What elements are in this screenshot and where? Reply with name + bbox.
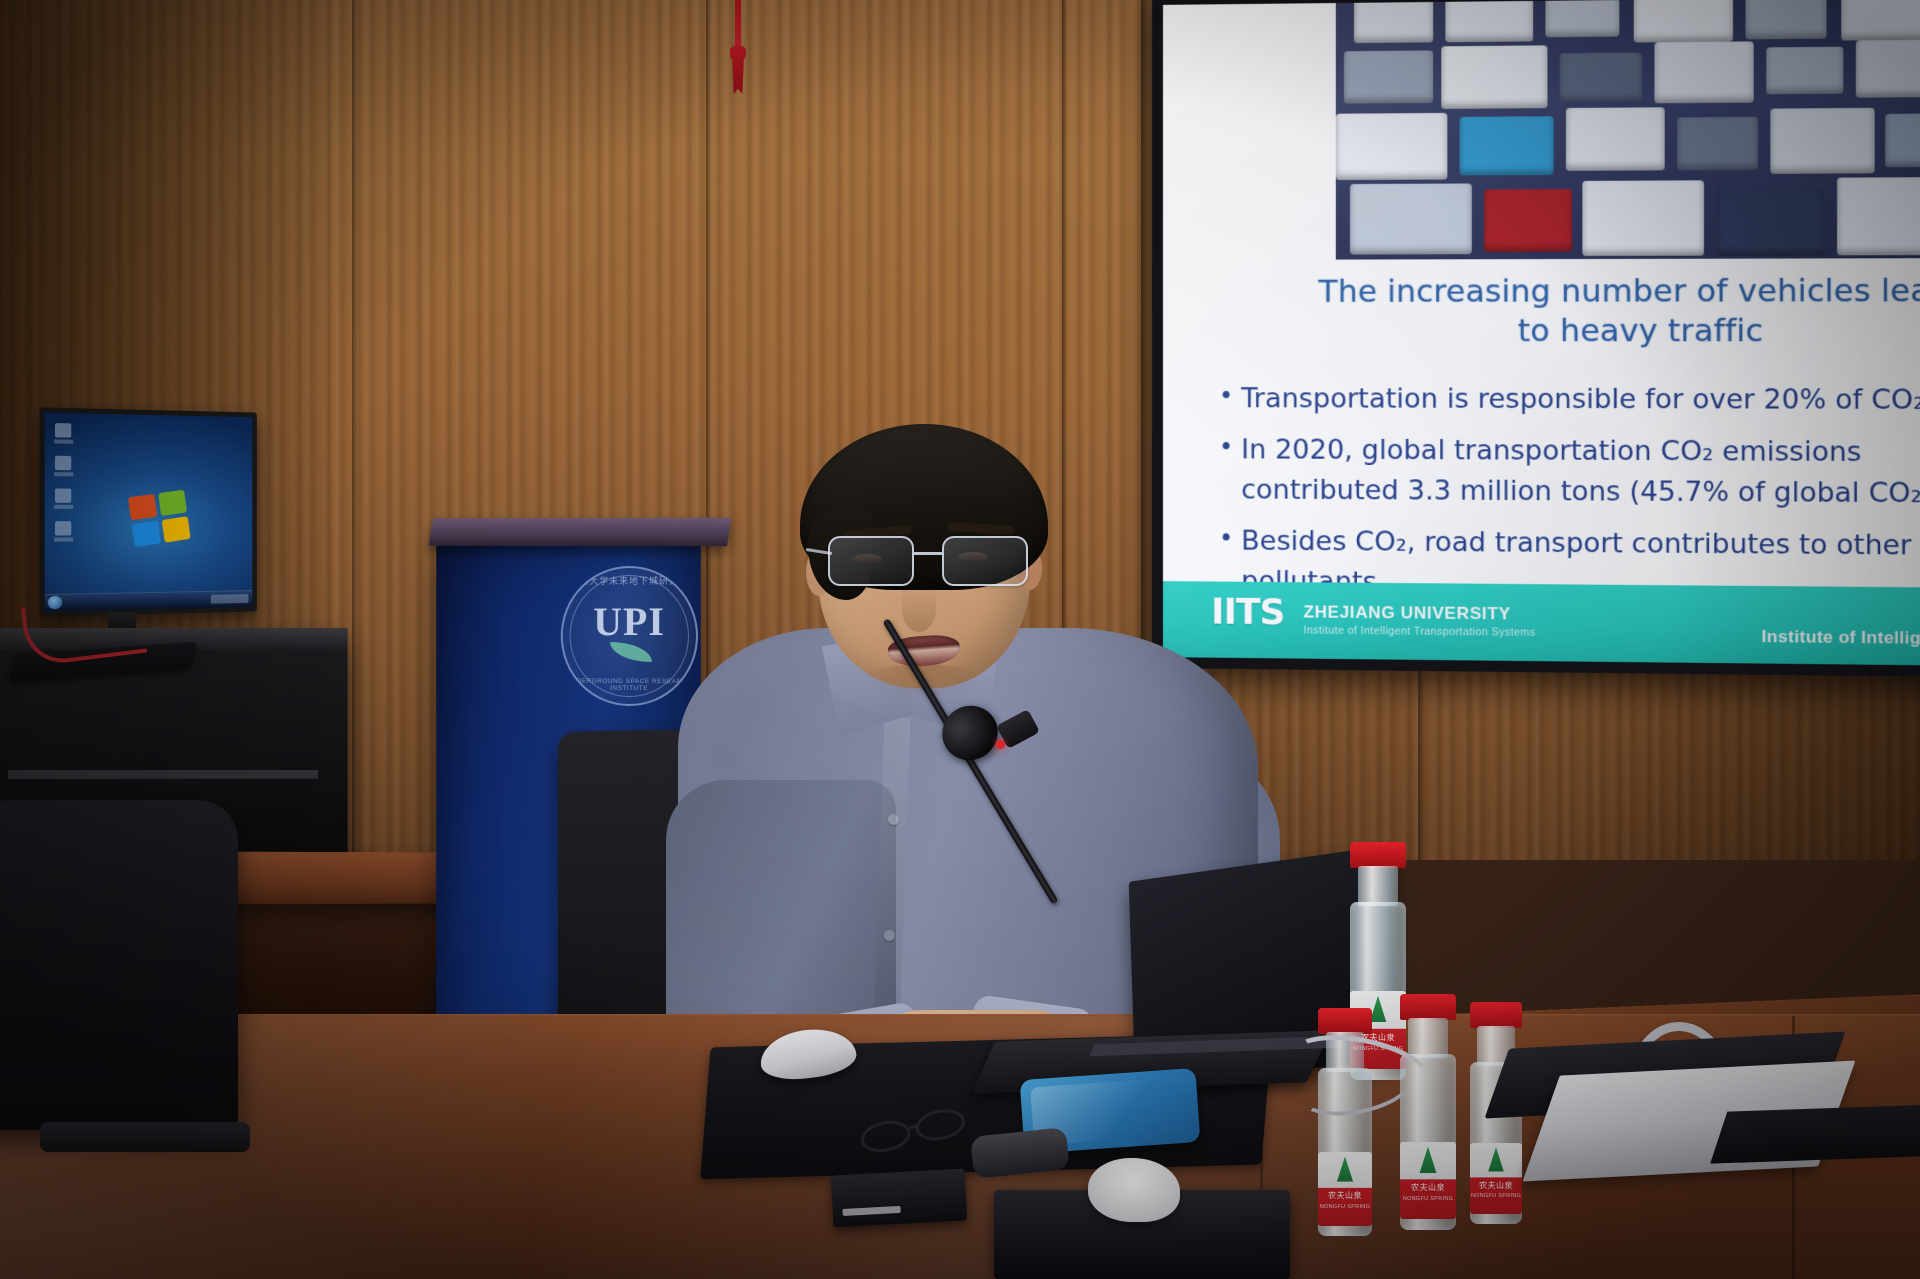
av-cart-shelf [8,770,318,779]
university-name: ZHEJIANG UNIVERSITY [1304,602,1511,624]
desktop-icon[interactable] [55,423,71,438]
black-device[interactable] [831,1169,968,1228]
bottle-brand-cn: 农夫山泉 [1318,1190,1372,1201]
windows-desktop-wallpaper [45,413,252,612]
bottle-label-mountain-icon [1370,996,1387,1023]
conference-room-scene: The increasing number of vehicles leads … [0,0,1920,1279]
foreground-chair [0,800,238,1130]
microphone-power-led [996,740,1005,749]
bottle-label: 农夫山泉 NONGFU SPRING [1470,1143,1522,1214]
bottle-label-mountain-icon [1420,1147,1437,1173]
desktop-monitor[interactable] [40,407,257,616]
institute-subtitle: Institute of Intelligent Transportation … [1304,624,1536,638]
red-tassel-decoration [728,0,748,94]
bottle-cap [1350,842,1406,868]
desktop-icon[interactable] [55,521,71,535]
bottle-cap [1400,994,1456,1020]
wall-seam [352,0,357,860]
speaker-eyeglasses [828,536,1036,592]
desktop-icon[interactable] [55,488,71,502]
bottle-label-mountain-icon [1337,1156,1353,1181]
bottle-neck [1408,1018,1448,1058]
slide-bullet-2: In 2020, global transportation CO₂ emiss… [1215,430,1920,516]
water-bottle-front-mid[interactable]: 农夫山泉 NONGFU SPRING [1400,994,1456,1230]
slide-bullet-1: Transportation is responsible for over 2… [1215,379,1920,422]
slide-heading-line-1: The increasing number of vehicles leads [1314,271,1920,312]
institute-right-text: Institute of Intellige [1762,627,1920,649]
tissue-paper [1088,1158,1180,1222]
slide-heading-line-2: to heavy traffic [1314,312,1920,352]
bottle-label: 农夫山泉 NONGFU SPRING [1400,1142,1456,1219]
folder-pad [1710,1104,1920,1163]
bottle-label-mountain-icon [1488,1147,1504,1171]
bottle-brand-en: NONGFU SPRING [1318,1204,1372,1210]
bottle-cap [1318,1008,1372,1034]
foreground-chair-armrest [40,1122,250,1152]
windows-logo-icon [128,489,195,551]
slide-bullet-1-text: Transportation is responsible for over 2… [1241,383,1920,416]
bottle-brand-en: NONGFU SPRING [1400,1196,1456,1202]
traffic-jam-photo [1336,0,1920,260]
system-tray[interactable] [211,594,249,604]
bottle-neck [1358,866,1398,906]
speaker-nose [902,586,936,632]
slide-bullet-2-text: In 2020, global transportation CO₂ emiss… [1241,434,1920,510]
bottle-label: 农夫山泉 NONGFU SPRING [1318,1152,1372,1226]
bottle-brand-cn: 农夫山泉 [1470,1180,1522,1191]
bottle-cap [1470,1002,1522,1028]
bottle-brand-en: NONGFU SPRING [1470,1193,1522,1199]
desktop-icon[interactable] [55,456,71,470]
bottle-brand-cn: 农夫山泉 [1400,1182,1456,1193]
slide-heading: The increasing number of vehicles leads … [1314,271,1920,351]
